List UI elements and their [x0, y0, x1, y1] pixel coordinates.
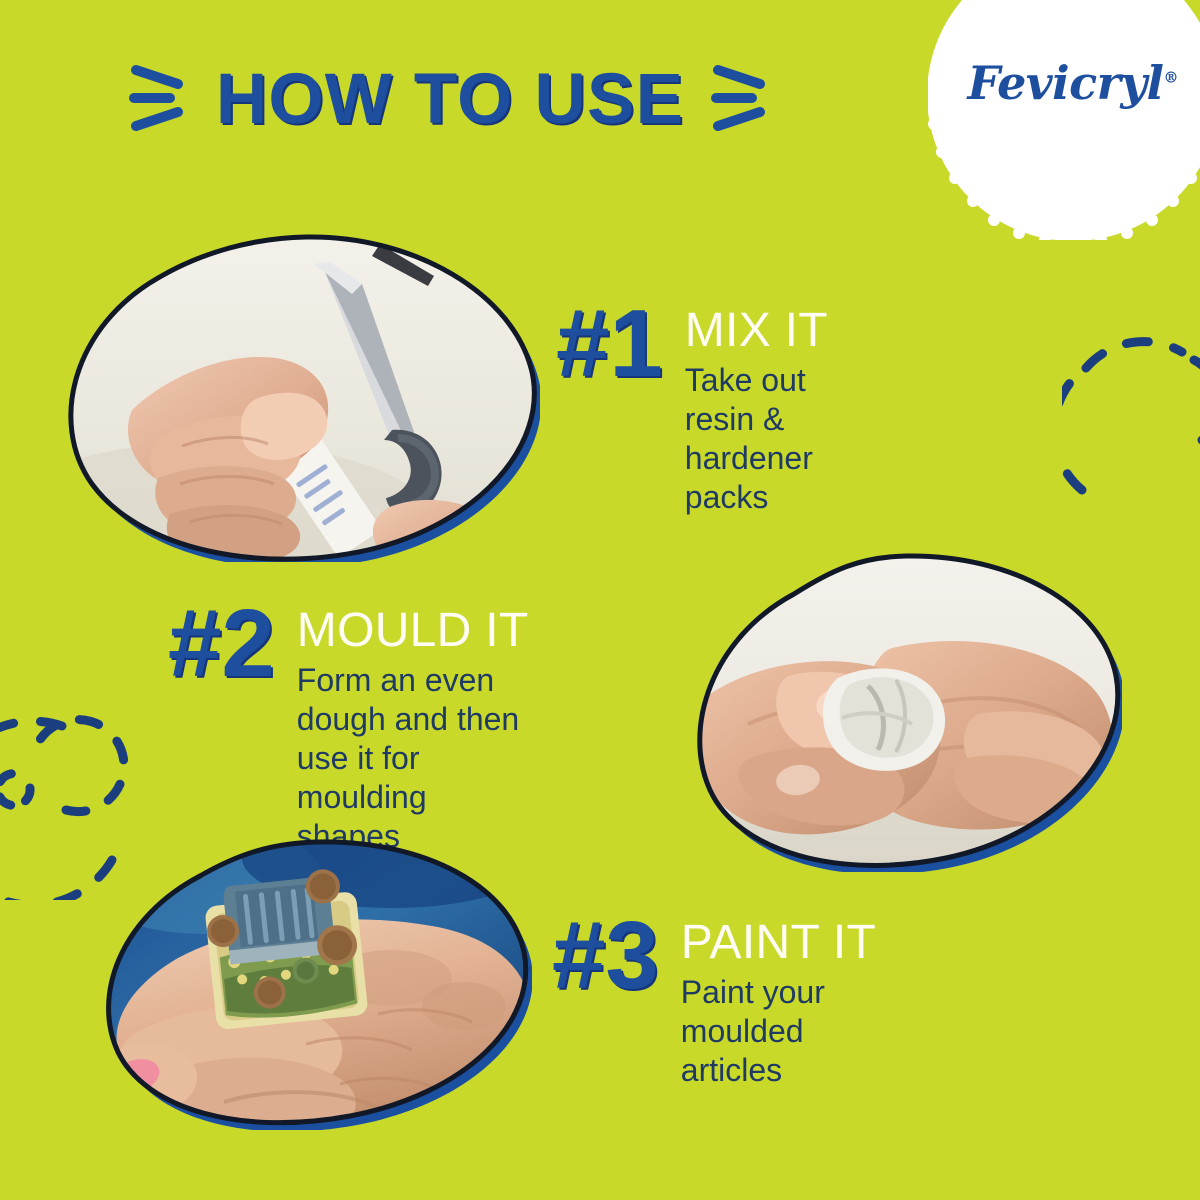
step-heading: MIX IT	[685, 306, 828, 357]
step-description: Take out resin & hardener packs	[685, 361, 828, 517]
registered-mark: ®	[1164, 69, 1179, 87]
step-number: #1	[556, 300, 663, 388]
poster-canvas: HOW TO USE	[0, 0, 1200, 1200]
burst-lines-icon	[710, 58, 772, 141]
brand-logo-wordmark: Fevicryl®	[928, 56, 1200, 110]
step-text: #3 PAINT IT Paint your moulded articles	[552, 912, 876, 1090]
brand-logo-badge: Fevicryl®	[928, 0, 1200, 240]
burst-lines-icon	[128, 58, 190, 141]
step-description: Form an even dough and then use it for m…	[297, 661, 529, 856]
page-header: HOW TO USE	[0, 44, 900, 154]
dashed-spiral-icon	[1062, 330, 1200, 525]
step-number: #2	[168, 600, 275, 688]
photo-kneading-dough	[692, 552, 1122, 872]
step-text: #2 MOULD IT Form an even dough and then …	[168, 600, 529, 856]
scalloped-circle-shape	[928, 0, 1200, 240]
photo-cutting-resin-pack	[62, 232, 540, 562]
step-text: #1 MIX IT Take out resin & hardener pack…	[556, 300, 828, 517]
step-description: Paint your moulded articles	[681, 973, 876, 1090]
step-heading: MOULD IT	[297, 606, 529, 657]
page-title: HOW TO USE	[216, 59, 684, 140]
brand-logo-text: Fevicryl	[967, 56, 1163, 110]
step-heading: PAINT IT	[681, 918, 876, 969]
step-number: #3	[552, 912, 659, 1000]
photo-painted-ring	[92, 838, 532, 1130]
